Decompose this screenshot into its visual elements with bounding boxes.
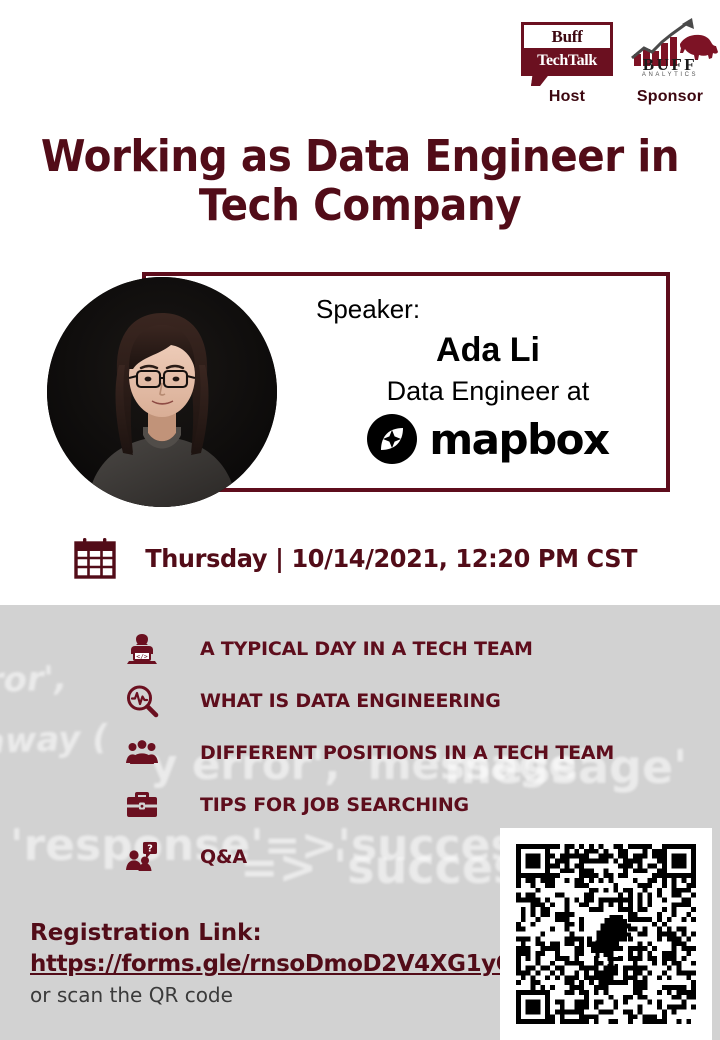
sponsor-logo-block: BUFF ANALYTICS Sponsor bbox=[618, 18, 720, 106]
registration-block: Registration Link: https://forms.gle/rns… bbox=[30, 918, 500, 1010]
agenda-label: TIPS FOR JOB SEARCHING bbox=[200, 794, 469, 816]
agenda-label: A TYPICAL DAY IN A TECH TEAM bbox=[200, 638, 533, 660]
registration-note: or scan the QR code bbox=[30, 980, 500, 1010]
speaker-label: Speaker: bbox=[306, 290, 670, 328]
header-logos: Buff TechTalk Host bbox=[0, 12, 720, 117]
host-logo-block: Buff TechTalk Host bbox=[512, 22, 622, 106]
page-title-line1: Working as Data Engineer in bbox=[29, 132, 691, 181]
event-datetime: Thursday | 10/14/2021, 12:20 PM CST bbox=[145, 544, 637, 573]
people-question-icon: ? bbox=[122, 837, 162, 877]
group-of-people-icon bbox=[122, 733, 162, 773]
list-item: WHAT IS DATA ENGINEERING bbox=[0, 675, 720, 727]
person-at-laptop-icon: </> bbox=[122, 629, 162, 669]
mapbox-mark-icon bbox=[367, 414, 417, 464]
list-item: TIPS FOR JOB SEARCHING bbox=[0, 779, 720, 831]
qr-code-image bbox=[516, 844, 696, 1024]
registration-link[interactable]: https://forms.gle/rnsoDmoD2V4XG1yQ6 bbox=[30, 949, 500, 980]
speaker-name: Ada Li bbox=[306, 328, 670, 372]
buff-analytics-logo: BUFF ANALYTICS bbox=[618, 18, 720, 76]
buff-techtalk-logo-line2: TechTalk bbox=[524, 48, 610, 73]
buff-techtalk-logo-line1: Buff bbox=[524, 25, 610, 48]
briefcase-icon bbox=[122, 785, 162, 825]
buff-techtalk-logo: Buff TechTalk bbox=[521, 22, 613, 76]
sponsor-caption: Sponsor bbox=[618, 88, 720, 106]
svg-text:?: ? bbox=[147, 844, 153, 855]
svg-text:ANALYTICS: ANALYTICS bbox=[642, 72, 698, 76]
agenda-label: Q&A bbox=[200, 846, 247, 868]
speaker-role: Data Engineer at bbox=[306, 372, 670, 410]
speaker-details: Speaker: Ada Li Data Engineer at mapbox bbox=[306, 276, 670, 464]
agenda-label: WHAT IS DATA ENGINEERING bbox=[200, 690, 501, 712]
event-datetime-row: Thursday | 10/14/2021, 12:20 PM CST bbox=[0, 536, 720, 580]
agenda-label: DIFFERENT POSITIONS IN A TECH TEAM bbox=[200, 742, 614, 764]
speaker-photo bbox=[47, 277, 277, 507]
qr-code[interactable] bbox=[500, 828, 712, 1040]
list-item: </> A TYPICAL DAY IN A TECH TEAM bbox=[0, 623, 720, 675]
mapbox-wordmark: mapbox bbox=[429, 415, 608, 464]
buffalo-bar-chart-icon: BUFF ANALYTICS bbox=[618, 18, 720, 76]
registration-title: Registration Link: bbox=[30, 918, 500, 949]
page-title-line2: Tech Company bbox=[29, 181, 691, 230]
list-item: DIFFERENT POSITIONS IN A TECH TEAM bbox=[0, 727, 720, 779]
speech-bubble-tail-icon bbox=[531, 72, 551, 86]
calendar-icon bbox=[73, 536, 117, 580]
mapbox-logo: mapbox bbox=[306, 414, 670, 464]
avatar bbox=[47, 277, 277, 507]
host-caption: Host bbox=[512, 88, 622, 106]
magnifier-analytics-icon bbox=[122, 681, 162, 721]
page-title: Working as Data Engineer in Tech Company bbox=[29, 132, 691, 230]
svg-text:</>: </> bbox=[136, 652, 148, 660]
